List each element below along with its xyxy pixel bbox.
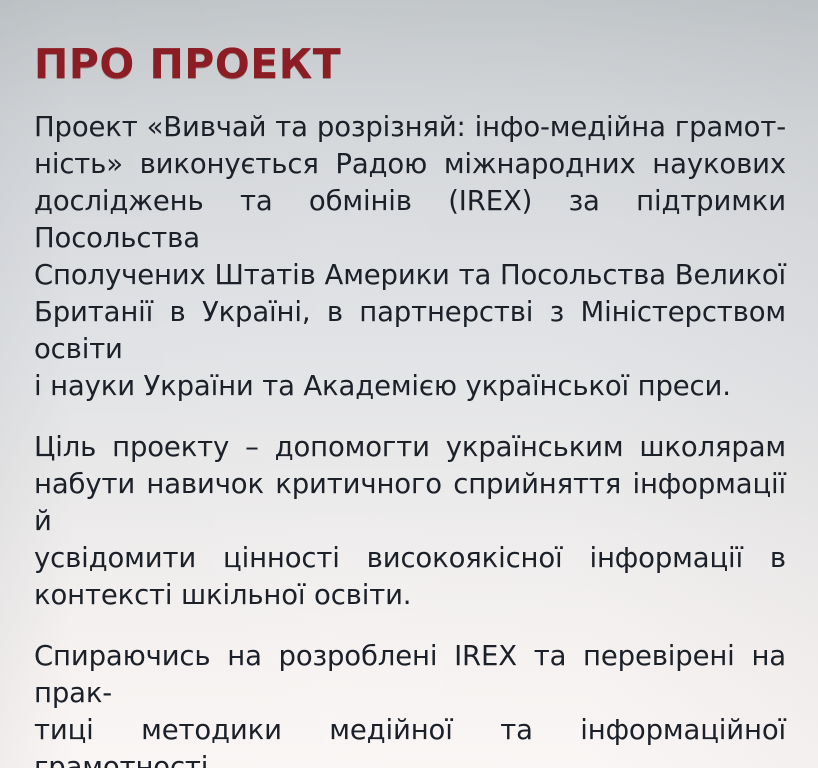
text-line: Ціль проекту – допомогти українським шко… [34,429,786,466]
document-content: ПРО ПРОЕКТ Проект «Вивчай та розрізняй: … [34,0,786,768]
paragraph-project-goal: Ціль проекту – допомогти українським шко… [34,429,786,614]
paragraph-about-project: Проект «Вивчай та розрізняй: інфо-медійн… [34,109,786,405]
text-line: Британії в Україні, в партнерстві з Міні… [34,294,786,368]
text-line: Спираючись на розроблені IREX та перевір… [34,638,786,712]
text-line: і науки України та Академією української… [34,368,786,405]
paragraph-methodology: Спираючись на розроблені IREX та перевір… [34,638,786,768]
text-line: тиці методики медійної та інформаційної … [34,712,786,768]
page-title: ПРО ПРОЕКТ [34,0,786,85]
text-line: усвідомити цінності високоякісної інформ… [34,540,786,577]
text-line: досліджень та обмінів (IREX) за підтримк… [34,183,786,257]
text-line: Сполучених Штатів Америки та Посольства … [34,257,786,294]
text-line: контексті шкільної освіти. [34,577,786,614]
text-line: набути навичок критичного сприйняття інф… [34,466,786,540]
text-line: ність» виконується Радою міжнародних нау… [34,146,786,183]
document-page: ПРО ПРОЕКТ Проект «Вивчай та розрізняй: … [0,0,818,768]
text-line: Проект «Вивчай та розрізняй: інфо-медійн… [34,109,786,146]
